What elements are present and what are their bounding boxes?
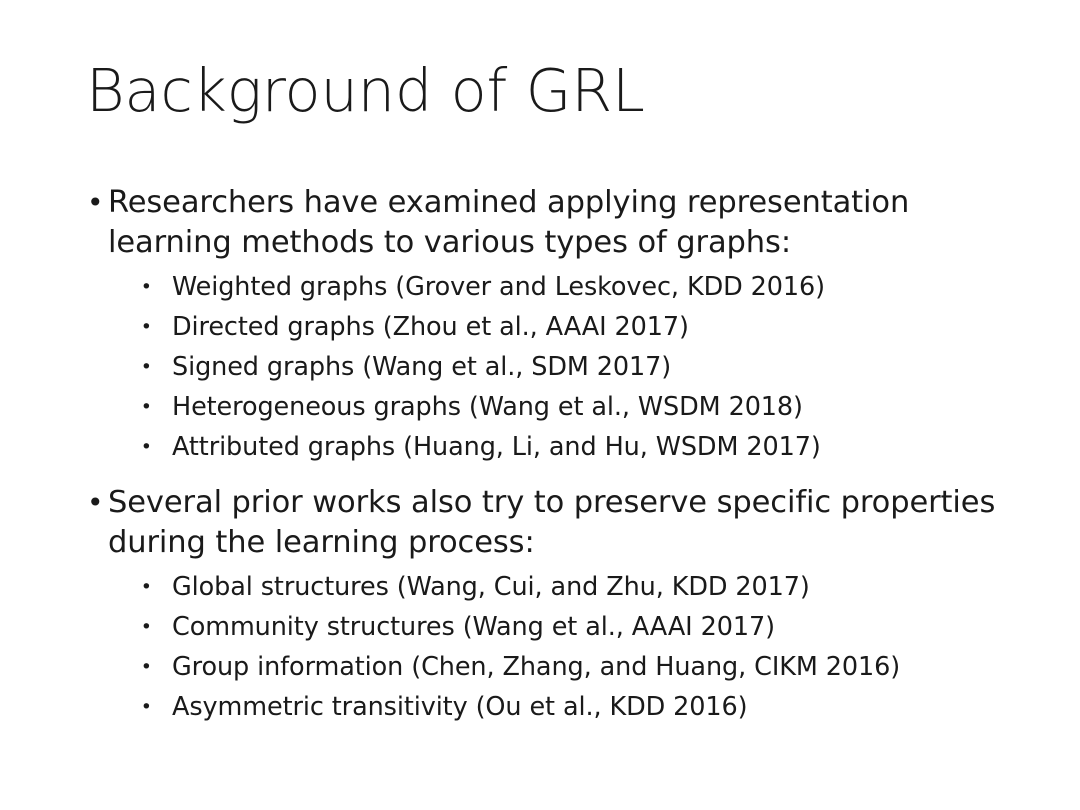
- sub-bullet-item: • Attributed graphs (Huang, Li, and Hu, …: [80, 427, 1010, 467]
- sub-bullet-item: • Directed graphs (Zhou et al., AAAI 201…: [80, 307, 1010, 347]
- sub-bullet-item: • Global structures (Wang, Cui, and Zhu,…: [80, 567, 1010, 607]
- sub-bullet-item: • Community structures (Wang et al., AAA…: [80, 607, 1010, 647]
- sub-bullet-item: • Asymmetric transitivity (Ou et al., KD…: [80, 687, 1010, 727]
- bullet-section-2: • Several prior works also try to preser…: [80, 483, 1010, 727]
- sub-bullet-text: Asymmetric transitivity (Ou et al., KDD …: [172, 687, 1010, 727]
- slide: Background of GRL • Researchers have exa…: [0, 0, 1080, 810]
- sub-bullet-text: Attributed graphs (Huang, Li, and Hu, WS…: [172, 427, 1010, 467]
- bullet-icon: •: [80, 347, 172, 387]
- sub-bullet-text: Community structures (Wang et al., AAAI …: [172, 607, 1010, 647]
- slide-body: • Researchers have examined applying rep…: [80, 183, 1010, 733]
- sub-bullet-text: Global structures (Wang, Cui, and Zhu, K…: [172, 567, 1010, 607]
- sub-bullet-text: Directed graphs (Zhou et al., AAAI 2017): [172, 307, 1010, 347]
- sub-bullet-text: Signed graphs (Wang et al., SDM 2017): [172, 347, 1010, 387]
- sub-bullet-item: • Weighted graphs (Grover and Leskovec, …: [80, 267, 1010, 307]
- top-level-bullet-text: Several prior works also try to preserve…: [108, 483, 1010, 563]
- bullet-icon: •: [80, 427, 172, 467]
- bullet-icon: •: [80, 687, 172, 727]
- page-title: Background of GRL: [86, 58, 645, 124]
- sub-bullet-item: • Signed graphs (Wang et al., SDM 2017): [80, 347, 1010, 387]
- sub-bullet-item: • Heterogeneous graphs (Wang et al., WSD…: [80, 387, 1010, 427]
- bullet-icon: •: [80, 647, 172, 687]
- bullet-section-1: • Researchers have examined applying rep…: [80, 183, 1010, 467]
- sub-bullet-text: Heterogeneous graphs (Wang et al., WSDM …: [172, 387, 1010, 427]
- top-level-bullet-text: Researchers have examined applying repre…: [108, 183, 1010, 263]
- section-divider-space: [80, 473, 1010, 483]
- sub-bullet-text: Group information (Chen, Zhang, and Huan…: [172, 647, 1010, 687]
- bullet-icon: •: [80, 307, 172, 347]
- sub-bullet-list: • Weighted graphs (Grover and Leskovec, …: [80, 267, 1010, 467]
- bullet-icon: •: [80, 267, 172, 307]
- bullet-icon: •: [80, 567, 172, 607]
- sub-bullet-list: • Global structures (Wang, Cui, and Zhu,…: [80, 567, 1010, 727]
- bullet-icon: •: [80, 387, 172, 427]
- top-level-bullet-item: • Researchers have examined applying rep…: [80, 183, 1010, 263]
- bullet-icon: •: [80, 483, 108, 523]
- top-level-bullet-item: • Several prior works also try to preser…: [80, 483, 1010, 563]
- bullet-icon: •: [80, 607, 172, 647]
- sub-bullet-item: • Group information (Chen, Zhang, and Hu…: [80, 647, 1010, 687]
- sub-bullet-text: Weighted graphs (Grover and Leskovec, KD…: [172, 267, 1010, 307]
- bullet-icon: •: [80, 183, 108, 223]
